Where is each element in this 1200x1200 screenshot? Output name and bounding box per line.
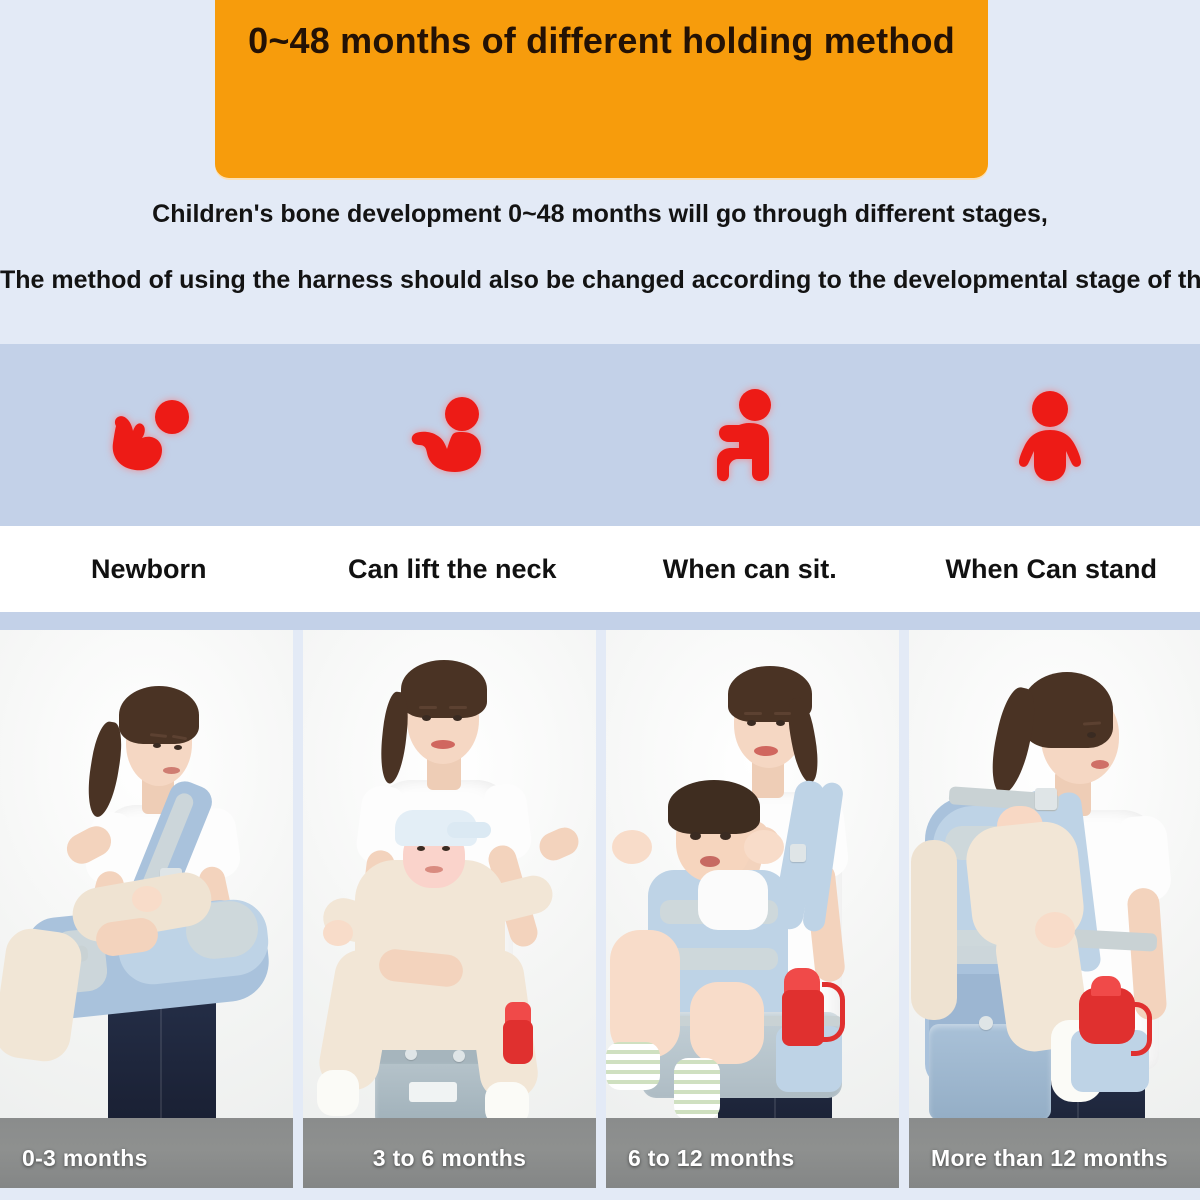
baby-sitting-icon — [715, 387, 785, 483]
photo-panel-0-3-months: 0-3 months — [0, 630, 293, 1188]
baby-standing-icon — [1013, 389, 1087, 481]
intro-line-2: The method of using the harness should a… — [0, 266, 1200, 295]
stage-label-stand: When Can stand — [899, 554, 1200, 585]
photo-panel-6-12-months: 6 to 12 months — [606, 630, 899, 1188]
photo-caption: 3 to 6 months — [303, 1145, 596, 1172]
photo-panel-3-6-months: 3 to 6 months — [303, 630, 596, 1188]
photo-scene-hip-seat-front: 3 to 6 months — [303, 630, 596, 1188]
infographic-page: 0~48 months of different holding method … — [0, 0, 1200, 1200]
photo-caption: 0-3 months — [0, 1145, 293, 1172]
baby-lifting-neck-icon — [405, 392, 495, 478]
page-title: 0~48 months of different holding method — [215, 20, 988, 62]
stage-label-row: Newborn Can lift the neck When can sit. … — [0, 526, 1200, 612]
stage-label-lift-neck: Can lift the neck — [304, 554, 602, 585]
stage-icon-cell-sit — [600, 344, 900, 526]
stage-label-sit: When can sit. — [601, 554, 899, 585]
stage-label-newborn: Newborn — [0, 554, 304, 585]
photo-panel-12-plus-months: More than 12 months — [909, 630, 1200, 1188]
divider-strip — [0, 612, 1200, 630]
intro-text-block: Children's bone development 0~48 months … — [0, 184, 1200, 344]
photo-row: 0-3 months — [0, 630, 1200, 1188]
intro-line-1: Children's bone development 0~48 months … — [0, 200, 1200, 229]
stage-icon-cell-stand — [900, 344, 1200, 526]
stage-icon-cell-lift-neck — [300, 344, 600, 526]
header-banner: 0~48 months of different holding method — [215, 0, 988, 178]
photo-caption: More than 12 months — [909, 1145, 1200, 1172]
photo-caption: 6 to 12 months — [606, 1145, 899, 1172]
photo-scene-cradle-hold: 0-3 months — [0, 630, 293, 1188]
stage-icon-cell-newborn — [0, 344, 300, 526]
photo-scene-back-carry: More than 12 months — [909, 630, 1200, 1188]
baby-lying-icon — [102, 392, 198, 478]
stage-icon-band — [0, 344, 1200, 526]
photo-scene-hip-seat-straps: 6 to 12 months — [606, 630, 899, 1188]
